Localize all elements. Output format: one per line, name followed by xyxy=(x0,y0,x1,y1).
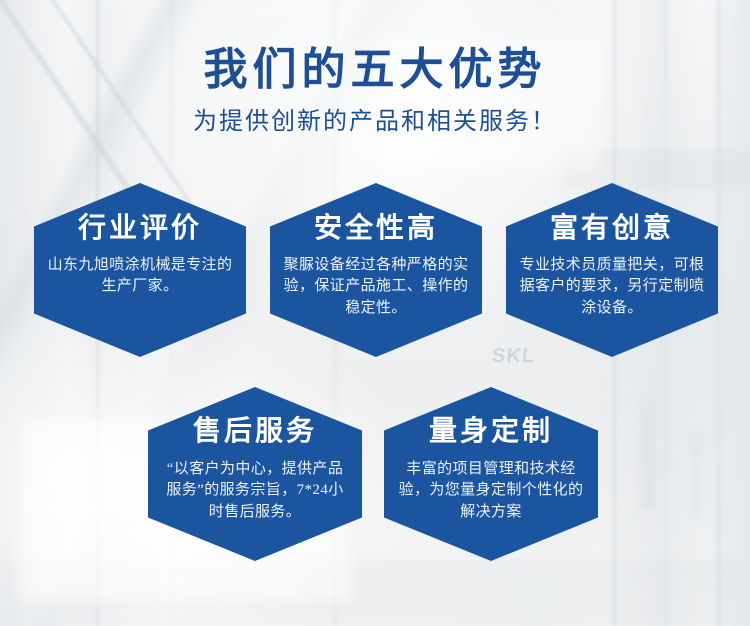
promo-banner: SKL 我们的五大优势 为提供创新的产品和相关服务！ 行业评价 山东九旭喷涂机械… xyxy=(0,0,750,626)
advantage-title-4: 售后服务 xyxy=(193,387,317,446)
background-shadow-3 xyxy=(640,400,656,510)
advantage-body-5: 丰富的项目管理和技术经验，为您量身定制个性化的解决方案 xyxy=(384,446,598,523)
advantage-hexagon-5[interactable]: 量身定制 丰富的项目管理和技术经验，为您量身定制个性化的解决方案 xyxy=(384,387,598,561)
background-shadow-4 xyxy=(690,430,704,520)
background-watermark: SKL xyxy=(491,345,536,368)
banner-header: 我们的五大优势 为提供创新的产品和相关服务！ xyxy=(0,0,750,134)
advantage-body-2: 聚脲设备经过各种严格的实验，保证产品施工、操作的稳定性。 xyxy=(270,243,482,319)
advantage-hexagon-2[interactable]: 安全性高 聚脲设备经过各种严格的实验，保证产品施工、操作的稳定性。 xyxy=(270,183,482,357)
page-subtitle: 为提供创新的产品和相关服务！ xyxy=(0,92,750,134)
advantage-body-3: 专业技术员质量把关，可根据客户的要求，另行定制喷涂设备。 xyxy=(506,243,718,319)
advantage-hexagon-3[interactable]: 富有创意 专业技术员质量把关，可根据客户的要求，另行定制喷涂设备。 xyxy=(506,183,718,357)
advantage-body-4: “以客户为中心，提供产品服务”的服务宗旨，7*24小时售后服务。 xyxy=(148,446,362,523)
page-title: 我们的五大优势 xyxy=(0,0,750,92)
advantage-body-1: 山东九旭喷涂机械是专注的生产厂家。 xyxy=(34,243,246,298)
advantage-title-3: 富有创意 xyxy=(550,183,674,243)
advantage-hexagon-1[interactable]: 行业评价 山东九旭喷涂机械是专注的生产厂家。 xyxy=(34,183,246,357)
advantage-title-5: 量身定制 xyxy=(429,387,553,446)
